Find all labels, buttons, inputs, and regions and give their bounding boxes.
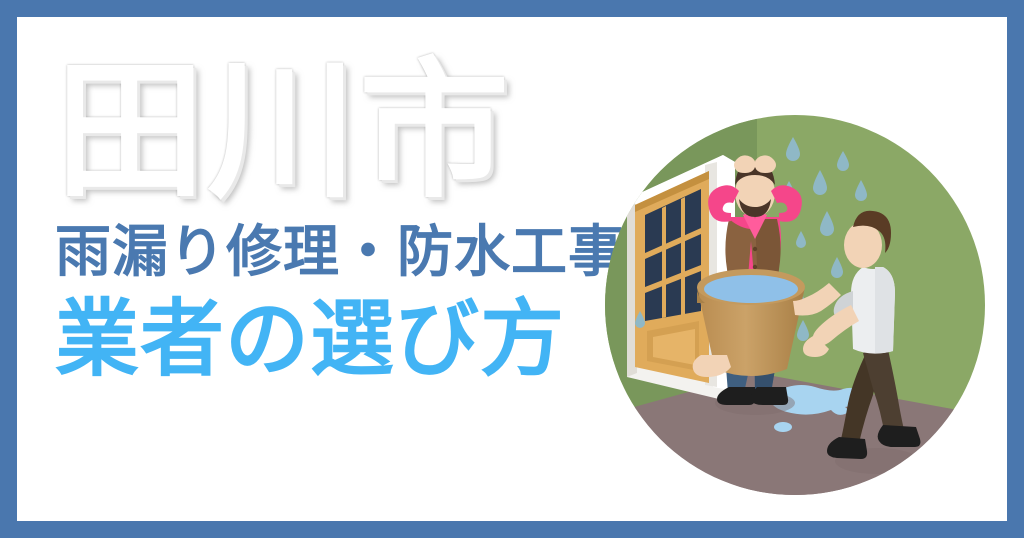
headline-text-block: 田川市 雨漏り修理・防水工事 業者の選び方: [55, 57, 645, 381]
headline-main: 業者の選び方: [55, 297, 645, 381]
bucket-water-surface: [704, 275, 798, 303]
floor-fill: [605, 411, 985, 495]
door-mullion-v1: [662, 206, 666, 318]
man2-shoe-front: [878, 425, 921, 447]
illustration-roof-leak-scene: [605, 115, 985, 495]
door-mullion-v2: [681, 197, 685, 315]
headline-subtitle: 雨漏り修理・防水工事: [55, 225, 645, 281]
man2-shirt-shade: [875, 267, 895, 353]
man1-shoe-right: [751, 387, 789, 405]
page-title-city: 田川市: [55, 57, 645, 207]
puddle-splash: [774, 422, 792, 432]
banner-root: 田川市 雨漏り修理・防水工事 業者の選び方: [0, 0, 1024, 538]
banner-canvas: 田川市 雨漏り修理・防水工事 業者の選び方: [17, 17, 1007, 521]
illustration-svg: [605, 115, 985, 495]
